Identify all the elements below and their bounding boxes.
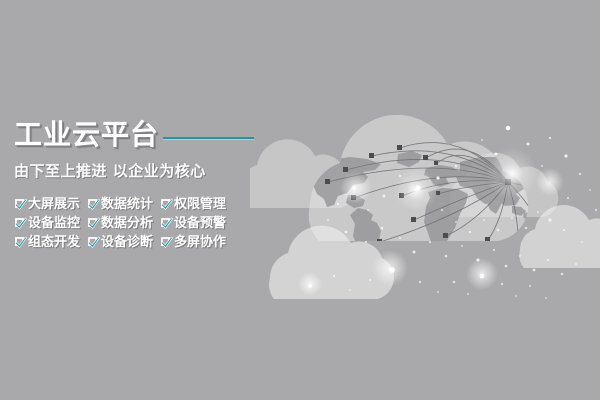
feature-item[interactable]: 数据分析 [87, 214, 153, 233]
check-mark-icon [14, 236, 27, 249]
feature-label: 数据分析 [101, 214, 153, 233]
cloud-world-map-illustration [250, 70, 600, 330]
check-mark-icon [87, 198, 100, 211]
page-title: 工业云平台 [14, 118, 159, 152]
feature-item[interactable]: 权限管理 [160, 195, 226, 214]
check-mark-icon [14, 198, 27, 211]
feature-row: 大屏展示 数据统计 权限管理 [14, 195, 254, 214]
feature-item[interactable]: 多屏协作 [160, 233, 226, 252]
feature-label: 设备预警 [174, 214, 226, 233]
feature-item[interactable]: 数据统计 [87, 195, 153, 214]
feature-item[interactable]: 大屏展示 [14, 195, 80, 214]
feature-item[interactable]: 设备监控 [14, 214, 80, 233]
feature-label: 权限管理 [174, 195, 226, 214]
title-underline-rule [163, 137, 254, 139]
feature-list: 大屏展示 数据统计 权限管理 设备监控 数据分析 设备预警 组态开发 设备诊断 … [14, 195, 254, 252]
title-row: 工业云平台 [14, 118, 254, 152]
page-subtitle: 由下至上推进 以企业为核心 [14, 161, 254, 181]
feature-label: 组态开发 [28, 233, 80, 252]
feature-label: 数据统计 [101, 195, 153, 214]
check-mark-icon [14, 217, 27, 230]
feature-row: 组态开发 设备诊断 多屏协作 [14, 233, 254, 252]
check-mark-icon [160, 217, 173, 230]
feature-label: 大屏展示 [28, 195, 80, 214]
feature-item[interactable]: 组态开发 [14, 233, 80, 252]
feature-label: 设备监控 [28, 214, 80, 233]
feature-label: 多屏协作 [174, 233, 226, 252]
feature-item[interactable]: 设备诊断 [87, 233, 153, 252]
check-mark-icon [87, 236, 100, 249]
check-mark-icon [87, 217, 100, 230]
check-mark-icon [160, 198, 173, 211]
check-mark-icon [160, 236, 173, 249]
feature-label: 设备诊断 [101, 233, 153, 252]
feature-item[interactable]: 设备预警 [160, 214, 226, 233]
banner-copy-block: 工业云平台 由下至上推进 以企业为核心 大屏展示 数据统计 权限管理 设备监控 … [14, 118, 254, 252]
industrial-cloud-platform-banner: 工业云平台 由下至上推进 以企业为核心 大屏展示 数据统计 权限管理 设备监控 … [0, 0, 600, 400]
feature-row: 设备监控 数据分析 设备预警 [14, 214, 254, 233]
